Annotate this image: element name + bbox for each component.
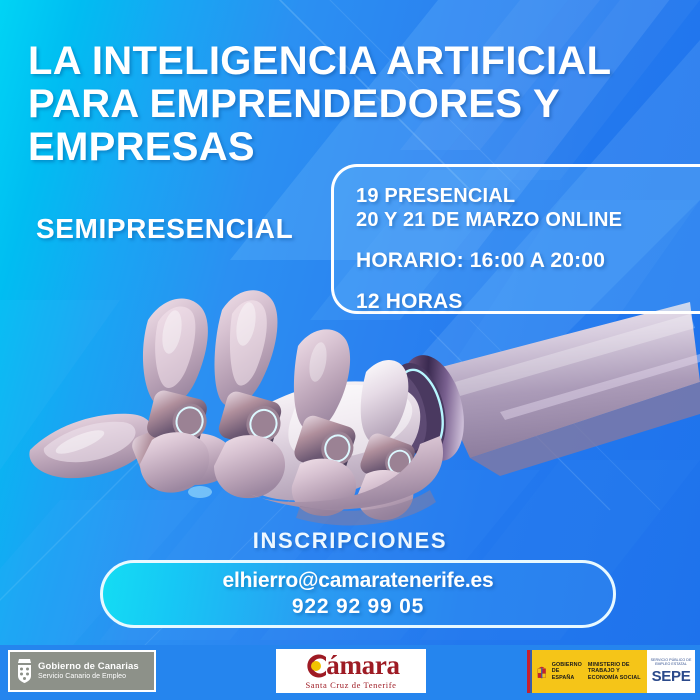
sepe-logo-title: SEPE [652,668,691,685]
info-date-line-2: 20 Y 21 DE MARZO ONLINE [356,209,700,233]
logo-sepe: SERVICIO PÚBLICO DE EMPLEO ESTATAL SEPE [647,650,695,693]
logo-gobierno-de-canarias: Gobierno de Canarias Servicio Canario de… [8,650,156,692]
info-schedule: HORARIO: 16:00 A 20:00 [356,249,700,273]
sepe-logo-subtitle: SERVICIO PÚBLICO DE EMPLEO ESTATAL [647,658,695,667]
logo-camara-tenerife: ámara Santa Cruz de Tenerife [276,649,426,693]
modality-label: SEMIPRESENCIAL [36,213,293,245]
info-duration: 12 HORAS [356,290,700,314]
espana-coat-of-arms-icon [536,657,547,687]
registration-email[interactable]: elhierro@camaratenerife.es [223,569,494,593]
canarias-shield-icon [16,658,33,684]
poster-canvas: LA INTELIGENCIA ARTIFICIAL PARA EMPRENDE… [0,0,700,700]
espana-blue-stripe [530,650,532,693]
logo-gobierno-de-espana: GOBIERNO DE ESPAÑA MINISTERIO DE TRABAJO… [527,650,647,693]
espana-logo-subtitle: MINISTERIO DE TRABAJO Y ECONOMÍA SOCIAL [588,662,647,680]
contact-pill: elhierro@camaratenerife.es 922 92 99 05 [100,560,616,628]
camara-logo-subtitle: Santa Cruz de Tenerife [305,680,396,690]
registration-phone[interactable]: 922 92 99 05 [292,595,424,619]
espana-logo-title: GOBIERNO DE ESPAÑA [552,662,582,680]
canarias-logo-subtitle: Servicio Canario de Empleo [38,673,139,680]
info-date-line-1: 19 PRESENCIAL [356,185,700,209]
camara-logo-title: ámara [326,652,399,679]
canarias-logo-title: Gobierno de Canarias [38,662,139,672]
registration-label: INSCRIPCIONES [0,528,700,554]
page-title: LA INTELIGENCIA ARTIFICIAL PARA EMPRENDE… [28,40,688,168]
course-info-box: 19 PRESENCIAL 20 Y 21 DE MARZO ONLINE HO… [331,164,700,314]
camara-c-mark-icon [302,653,328,679]
